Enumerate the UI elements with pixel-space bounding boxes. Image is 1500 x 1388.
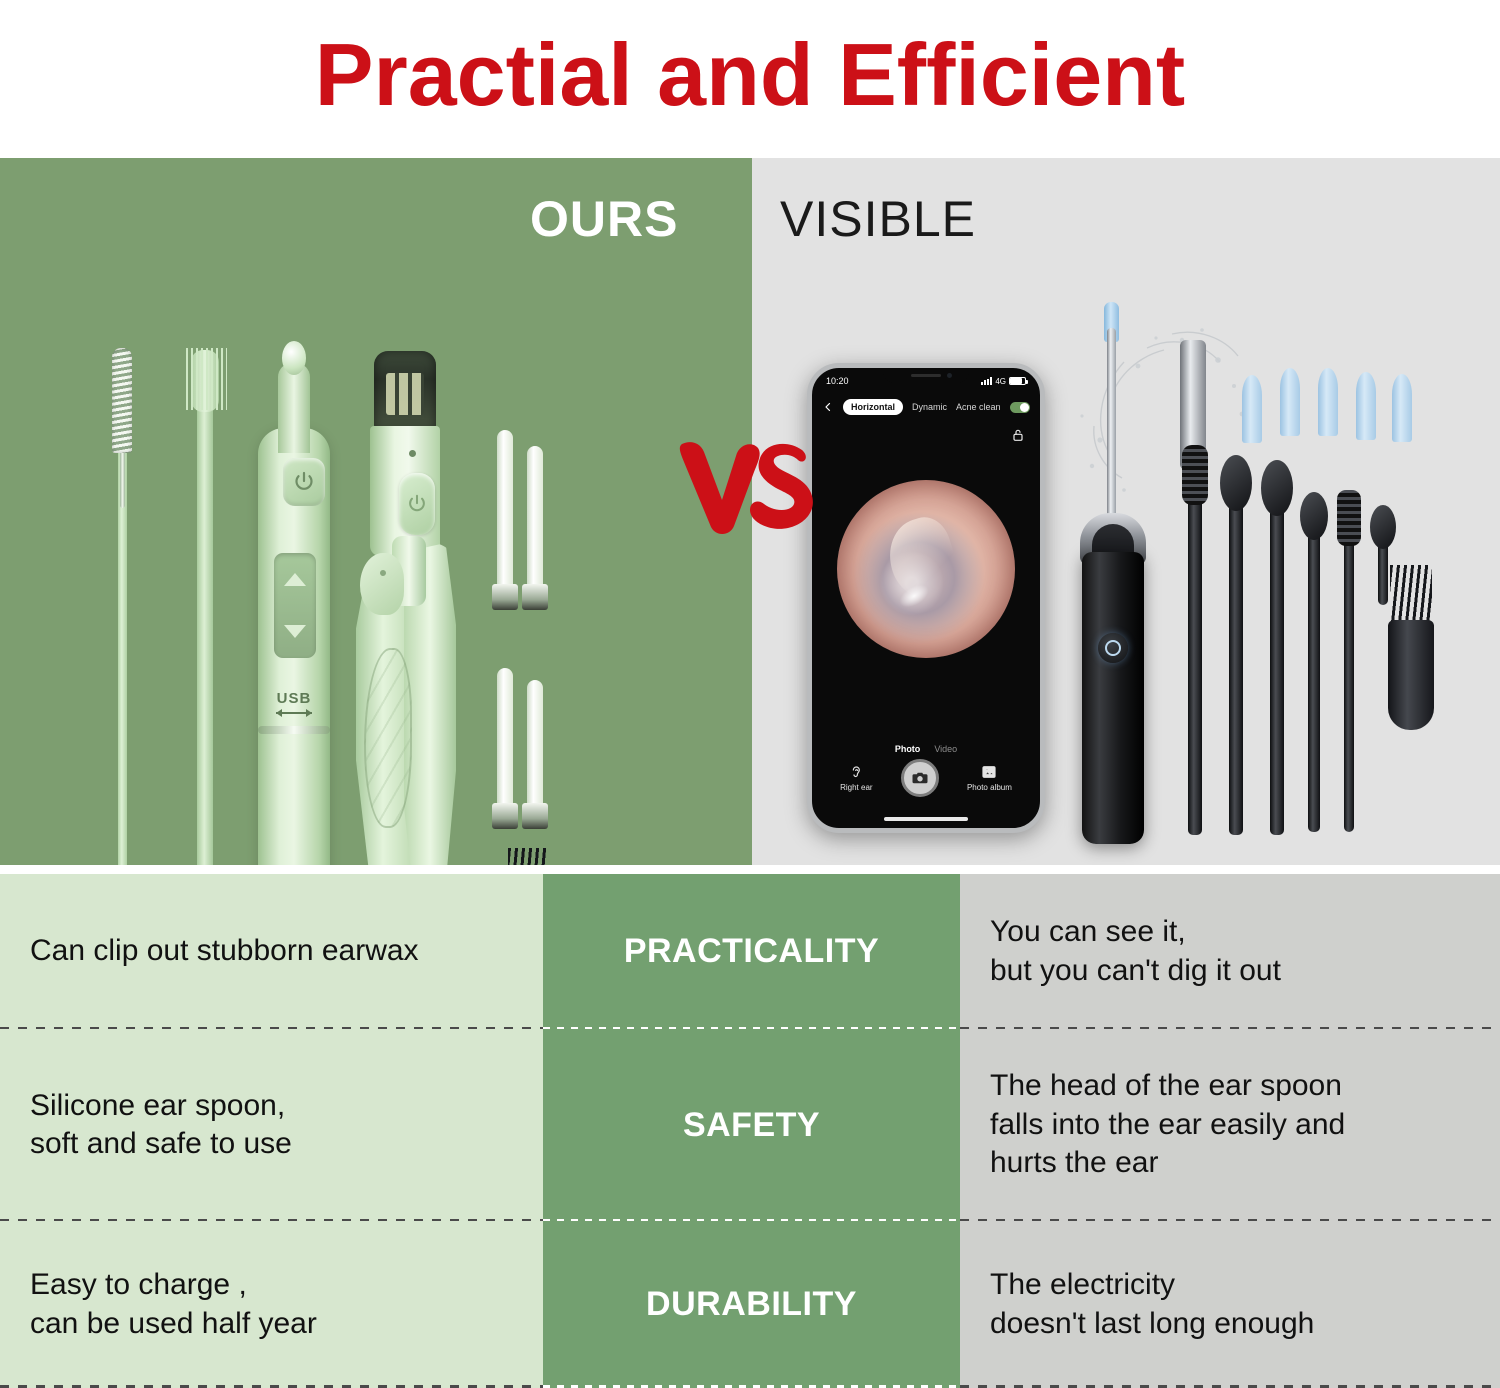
- ours-label: OURS: [530, 190, 678, 248]
- spiral-pick-head: [112, 348, 132, 453]
- ours-text: Can clip out stubborn earwax: [30, 932, 419, 970]
- visible-text-line2: but you can't dig it out: [990, 954, 1281, 987]
- visible-cell-safety: The head of the ear spoon falls into the…: [960, 1029, 1500, 1221]
- visible-text: The electricity doesn't last long enough: [990, 1266, 1314, 1343]
- usb-port-marking: USB: [258, 683, 330, 725]
- ours-text-line2: soft and safe to use: [30, 1127, 292, 1160]
- replacement-tip-base: [522, 803, 548, 829]
- chevron-down-icon: [284, 625, 306, 638]
- visible-cell-durability: The electricity doesn't last long enough: [960, 1221, 1500, 1388]
- ear-pick-spoon-head: [1220, 455, 1252, 511]
- silicone-tip: [1280, 368, 1300, 436]
- wand-body: [1082, 552, 1144, 844]
- criteria-label: PRACTICALITY: [624, 932, 879, 971]
- visible-text: You can see it, but you can't dig it out: [990, 913, 1281, 990]
- camera-power-button-icon: [399, 473, 435, 535]
- page-title: Practial and Efficient: [315, 31, 1185, 119]
- right-ear-selector[interactable]: Right ear: [840, 764, 872, 792]
- black-brush-bristles: [1390, 565, 1432, 623]
- ear-pick-small: [1308, 520, 1320, 832]
- signal-bars-icon: [981, 377, 992, 385]
- ear-pick-tiny-head: [1370, 505, 1396, 549]
- ear-cleaner-base-ring: [258, 726, 330, 734]
- chevron-up-icon: [284, 573, 306, 586]
- silicone-brush-handle: [197, 393, 213, 865]
- ear-pick-ribbed: [1344, 530, 1354, 832]
- ear-cleaner-scoop-tip: [282, 341, 306, 375]
- visible-text-line1: You can see it,: [990, 915, 1186, 948]
- right-ear-label: Right ear: [840, 783, 872, 792]
- vs-badge: [676, 438, 816, 538]
- settings-toggle[interactable]: [1010, 402, 1030, 413]
- visible-text-line3: hurts the ear: [990, 1146, 1158, 1179]
- black-cleaning-brush: [1388, 620, 1434, 730]
- ear-pick-spiral-head: [1182, 445, 1208, 505]
- phone-notch: [883, 368, 969, 383]
- home-indicator: [884, 817, 968, 821]
- visible-text-line2: doesn't last long enough: [990, 1307, 1314, 1340]
- ours-text: Easy to charge , can be used half year: [30, 1266, 317, 1343]
- battery-icon: [1009, 377, 1026, 385]
- tab-dynamic[interactable]: Dynamic: [912, 402, 947, 412]
- network-type: 4G: [995, 377, 1006, 386]
- ear-pick-scoop: [1270, 490, 1284, 835]
- silicone-tip: [1356, 372, 1376, 440]
- shutter-button[interactable]: [901, 759, 939, 797]
- indicator-dot-icon: [409, 450, 416, 457]
- ear-canal-endoscope-view: [837, 480, 1015, 658]
- ear-pick-spoon: [1229, 485, 1243, 835]
- wand-power-button-icon: [1098, 633, 1128, 663]
- criteria-label: SAFETY: [683, 1106, 820, 1145]
- table-row: Easy to charge , can be used half year D…: [0, 1221, 1500, 1388]
- ours-panel: OURS: [0, 158, 752, 865]
- replacement-tip: [527, 446, 543, 598]
- ours-text-line2: can be used half year: [30, 1307, 317, 1340]
- front-camera-icon: [947, 373, 952, 378]
- replacement-tip-base: [492, 584, 518, 610]
- silicone-brush-bristles: [183, 348, 227, 410]
- up-down-rocker-switch: [274, 553, 316, 658]
- lock-icon[interactable]: [1010, 426, 1026, 444]
- ear-pick-spiral: [1188, 455, 1202, 835]
- status-indicators: 4G: [981, 377, 1026, 386]
- ours-text: Silicone ear spoon, soft and safe to use: [30, 1087, 292, 1164]
- phone-mockup: 10:20 4G Horizontal Dynamic: [807, 363, 1045, 833]
- criteria-label: DURABILITY: [646, 1285, 857, 1324]
- cleaning-brush-bristles: [508, 848, 546, 865]
- tab-horizontal[interactable]: Horizontal: [843, 399, 903, 415]
- usb-label: USB: [277, 690, 312, 707]
- silicone-tip: [1242, 375, 1262, 443]
- replacement-tip-base: [522, 584, 548, 610]
- replacement-tip: [527, 680, 543, 816]
- earpiece-speaker: [911, 374, 941, 377]
- phone-bottom-bar: Right ear Photo a: [812, 752, 1040, 804]
- infographic-page: Practial and Efficient OURS: [0, 0, 1500, 1388]
- ear-icon: [848, 764, 864, 780]
- ours-cell-safety: Silicone ear spoon, soft and safe to use: [0, 1029, 543, 1221]
- criteria-practicality: PRACTICALITY: [543, 874, 960, 1029]
- visible-cell-practicality: You can see it, but you can't dig it out: [960, 874, 1500, 1029]
- criteria-durability: DURABILITY: [543, 1221, 960, 1388]
- replacement-tip-base: [492, 803, 518, 829]
- ear-pick-ribbed-head: [1337, 490, 1361, 546]
- ours-text-line1: Easy to charge ,: [30, 1268, 247, 1301]
- bird-tweezer-wing-detail: [364, 648, 412, 828]
- bird-tweezer-head: [360, 553, 404, 615]
- visible-text-line2: falls into the ear easily and: [990, 1108, 1345, 1141]
- led-lights: [386, 373, 424, 415]
- ear-pick-small-head: [1300, 492, 1328, 540]
- photo-album-label: Photo album: [967, 783, 1012, 792]
- status-time: 10:20: [826, 376, 849, 386]
- ear-cleaner-neck: [278, 363, 310, 453]
- replacement-tip: [497, 668, 513, 816]
- title-bar: Practial and Efficient: [0, 0, 1500, 150]
- comparison-table: Can clip out stubborn earwax PRACTICALIT…: [0, 874, 1500, 1388]
- ear-pick-scoop-head: [1261, 460, 1293, 516]
- visible-text: The head of the ear spoon falls into the…: [990, 1067, 1345, 1182]
- visible-text-line1: The head of the ear spoon: [990, 1069, 1342, 1102]
- tab-acne-clean[interactable]: Acne clean: [956, 402, 1001, 412]
- visible-text-line1: The electricity: [990, 1268, 1175, 1301]
- ours-cell-practicality: Can clip out stubborn earwax: [0, 874, 543, 1029]
- wand-metal-probe: [1107, 328, 1116, 528]
- criteria-safety: SAFETY: [543, 1029, 960, 1221]
- photo-album-button[interactable]: Photo album: [967, 764, 1012, 792]
- silicone-tip: [1392, 374, 1412, 442]
- table-row: Silicone ear spoon, soft and safe to use…: [0, 1029, 1500, 1221]
- visible-label: VISIBLE: [780, 190, 976, 248]
- power-button-icon: [283, 458, 325, 506]
- photo-album-icon: [981, 764, 997, 780]
- ours-text-line1: Silicone ear spoon,: [30, 1089, 285, 1122]
- vs-brush-icon: [676, 438, 816, 538]
- ours-cell-durability: Easy to charge , can be used half year: [0, 1221, 543, 1388]
- phone-mode-tabs: Horizontal Dynamic Acne clean: [812, 394, 1040, 420]
- back-chevron-icon[interactable]: [822, 401, 834, 413]
- bird-tweezer-eye: [380, 570, 386, 576]
- double-arrow-icon: [274, 707, 314, 719]
- table-row: Can clip out stubborn earwax PRACTICALIT…: [0, 874, 1500, 1029]
- replacement-tip: [497, 430, 513, 598]
- camera-icon: [911, 769, 929, 787]
- silicone-tip: [1318, 368, 1338, 436]
